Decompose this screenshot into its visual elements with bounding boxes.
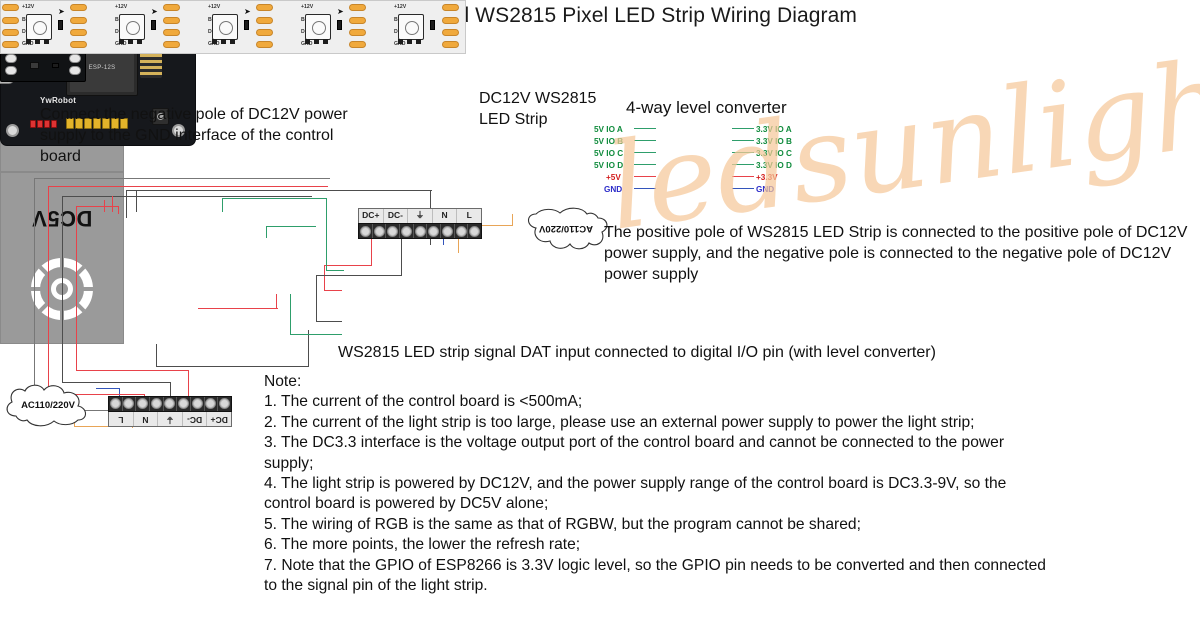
resistor bbox=[52, 63, 59, 68]
led-segment: +12V BI DI GND bbox=[372, 0, 465, 54]
direction-arrow-icon: ➤ bbox=[337, 8, 344, 16]
wire-sig-top bbox=[222, 198, 326, 199]
pad-label-12v: +12V bbox=[115, 4, 127, 10]
terminal-screw[interactable] bbox=[359, 224, 373, 238]
note-item: 7. Note that the GPIO of ESP8266 is 3.3V… bbox=[264, 556, 1054, 597]
pad-12v bbox=[2, 4, 19, 11]
wire-board-top-red bbox=[112, 196, 113, 212]
wire-board-top-black bbox=[136, 190, 137, 212]
right-instruction-note: The positive pole of WS2815 LED Strip is… bbox=[604, 222, 1194, 285]
dc12v-terminal-block: DC+ DC- ⏚ N L bbox=[358, 208, 482, 239]
dc5v-terminal-names: DC+ DC- ⏚ N L bbox=[108, 412, 232, 427]
led-segment: +12V BI DI GND ➤ bbox=[0, 0, 93, 54]
pad-12v bbox=[256, 4, 273, 11]
wire-12v-pos-down bbox=[371, 239, 372, 265]
pad-33v-gnd[interactable] bbox=[69, 66, 81, 75]
notes-heading: Note: bbox=[264, 372, 1054, 392]
pad-gnd bbox=[442, 41, 459, 48]
mosfet bbox=[30, 62, 39, 69]
wire-12v-neg-left bbox=[316, 275, 402, 276]
pad-label-12v: +12V bbox=[208, 4, 220, 10]
label-33v-io-d: 3.3V IO D bbox=[756, 161, 792, 170]
wire-12v-pos-strip-h bbox=[324, 290, 342, 291]
pad-bi bbox=[2, 17, 19, 24]
wire-ac-neutral-h bbox=[96, 388, 120, 389]
wire-conv-pwr bbox=[276, 294, 277, 308]
wire-gnd-mid-top bbox=[62, 196, 312, 197]
wire-sig-conv-b bbox=[266, 226, 316, 227]
pad-label-12v: +12V bbox=[394, 4, 406, 10]
terminal-name: DC+ bbox=[359, 209, 384, 223]
wire-conv-to-strip bbox=[290, 334, 342, 335]
wire-5v-inner-v bbox=[76, 206, 77, 370]
lead-33v-io-d bbox=[732, 164, 754, 165]
direction-arrow-icon: ➤ bbox=[58, 8, 65, 16]
wire-ac2-live bbox=[458, 239, 459, 253]
terminal-screw[interactable] bbox=[190, 397, 204, 411]
ac-source-cloud-secondary: AC110/220V bbox=[520, 206, 612, 252]
terminal-screw[interactable] bbox=[414, 224, 428, 238]
wire-12v-neg-down bbox=[401, 239, 402, 275]
terminal-name: L bbox=[457, 209, 481, 223]
pad-gnd bbox=[163, 41, 180, 48]
wire-gnd-mid-v bbox=[62, 196, 63, 382]
label-33v-io-a: 3.3V IO A bbox=[756, 125, 792, 134]
dc12v-strip-caption: DC12V WS2815 LED Strip bbox=[479, 88, 609, 130]
terminal-name: N bbox=[433, 209, 458, 223]
note-item: 4. The light strip is powered by DC12V, … bbox=[264, 474, 1054, 515]
terminal-name: DC+ bbox=[206, 412, 231, 426]
ac-source-cloud: AC110/220V bbox=[2, 382, 94, 428]
wire-conv-pwr-h bbox=[198, 308, 278, 309]
wire-board-bottom-gnd bbox=[156, 344, 157, 366]
terminal-screw[interactable] bbox=[441, 224, 455, 238]
terminal-screw[interactable] bbox=[135, 397, 149, 411]
pad-bi bbox=[256, 17, 273, 24]
note-item: 5. The wiring of RGB is the same as that… bbox=[264, 515, 1054, 535]
terminal-screw[interactable] bbox=[163, 397, 177, 411]
terminal-screw[interactable] bbox=[386, 224, 400, 238]
ws2815-led bbox=[398, 14, 424, 40]
level-converter-board[interactable] bbox=[0, 548, 86, 618]
pad-di bbox=[2, 29, 19, 36]
wire-board-bottom-up bbox=[308, 330, 309, 367]
wire-5v-inner-to-board bbox=[118, 206, 119, 214]
wire-gnd-outer-top bbox=[34, 178, 330, 179]
left-instruction-note: Connect the negative pole of DC12V power… bbox=[40, 104, 355, 167]
pad-di bbox=[70, 29, 87, 36]
wire-conv-down bbox=[290, 294, 291, 334]
direction-arrow-icon: ➤ bbox=[244, 8, 251, 16]
pad-12v bbox=[349, 4, 366, 11]
pad-di bbox=[163, 29, 180, 36]
direction-arrow-icon: ➤ bbox=[151, 8, 158, 16]
pad-gnd bbox=[256, 41, 273, 48]
wiring-diagram-canvas: ESP8266 Control Board WS2815 Pixel LED S… bbox=[0, 0, 1200, 618]
wire-gnd-outer-v bbox=[34, 178, 35, 410]
watermark-text: ledsunlight.com bbox=[600, 0, 1200, 257]
label-33v-io-c: 3.3V IO C bbox=[756, 149, 792, 158]
label-33v-power: +3.3V bbox=[756, 173, 778, 182]
label-33v-gnd: GND bbox=[756, 185, 774, 194]
lead-33v-gnd bbox=[732, 188, 754, 189]
lead-5v-io-d bbox=[634, 164, 656, 165]
led-segment: +12V BI DI GND ➤ bbox=[186, 0, 279, 54]
ws2815-led bbox=[26, 14, 52, 40]
ws2815-led bbox=[119, 14, 145, 40]
lead-33v-io-b bbox=[732, 140, 754, 141]
pad-12v bbox=[163, 4, 180, 11]
pad-bi bbox=[163, 17, 180, 24]
terminal-screw[interactable] bbox=[122, 397, 136, 411]
led-solder-feet bbox=[119, 39, 145, 44]
pad-bi bbox=[442, 17, 459, 24]
resistor bbox=[58, 20, 63, 30]
label-5v-power: +5V bbox=[606, 173, 621, 182]
lead-5v-io-c bbox=[634, 152, 656, 153]
led-segment: +12V BI DI GND ➤ bbox=[279, 0, 372, 54]
pad-gnd bbox=[70, 41, 87, 48]
ac-source-label-secondary: AC110/220V bbox=[520, 206, 612, 252]
led-strip-caption: WS2815 LED strip signal DAT input connec… bbox=[338, 343, 978, 363]
terminal-screw[interactable] bbox=[109, 397, 122, 411]
wire-board-bottom-h bbox=[156, 366, 308, 367]
wire-board-top-red2 bbox=[104, 200, 105, 212]
terminal-screw[interactable] bbox=[400, 224, 414, 238]
lead-33v-power bbox=[732, 176, 754, 177]
note-item: 1. The current of the control board is <… bbox=[264, 392, 1054, 412]
wire-5v-outer-v bbox=[48, 186, 49, 394]
wire-5v-inner-bottom bbox=[76, 370, 188, 371]
pad-12v bbox=[442, 4, 459, 11]
terminal-name: DC- bbox=[182, 412, 207, 426]
pad-bi bbox=[349, 17, 366, 24]
ws2815-led bbox=[305, 14, 331, 40]
pad-5v-gnd[interactable] bbox=[5, 66, 17, 75]
label-33v-io-b: 3.3V IO B bbox=[756, 137, 792, 146]
notes-block: Note: 1. The current of the control boar… bbox=[264, 372, 1054, 596]
dc5v-terminal-block: DC+ DC- ⏚ N L bbox=[108, 396, 232, 427]
lead-5v-io-b bbox=[634, 140, 656, 141]
terminal-name: DC- bbox=[384, 209, 409, 223]
wire-sig-up bbox=[222, 198, 223, 212]
pad-gnd bbox=[349, 41, 366, 48]
ac-source-label: AC110/220V bbox=[2, 382, 94, 428]
pad-5v-power[interactable] bbox=[5, 54, 17, 63]
terminal-screw[interactable] bbox=[217, 397, 231, 411]
level-converter-module-small[interactable] bbox=[0, 490, 56, 548]
wire-12v-gnd-left bbox=[126, 190, 127, 218]
wire-12v-gnd-top bbox=[126, 190, 432, 191]
terminal-name: ⏚ bbox=[408, 209, 433, 223]
terminal-name: ⏚ bbox=[157, 412, 182, 426]
note-item: 2. The current of the light strip is too… bbox=[264, 413, 1054, 433]
led-solder-feet bbox=[398, 39, 424, 44]
pad-bi bbox=[70, 17, 87, 24]
label-5v-io-b: 5V IO B bbox=[594, 137, 623, 146]
ps-label-line1: DC12V WS2815 bbox=[479, 88, 609, 109]
lead-33v-io-c bbox=[732, 152, 754, 153]
led-solder-feet bbox=[212, 39, 238, 44]
note-item: 6. The more points, the lower the refres… bbox=[264, 535, 1054, 555]
terminal-screw[interactable] bbox=[455, 224, 469, 238]
wire-12v-pos-strip bbox=[324, 265, 325, 290]
resistor bbox=[244, 20, 249, 30]
wire-sig-to-strip bbox=[326, 270, 344, 271]
pad-gnd bbox=[2, 41, 19, 48]
wire-ac2-live-v bbox=[512, 214, 513, 226]
dc12v-terminal-names: DC+ DC- ⏚ N L bbox=[358, 208, 482, 223]
pad-di bbox=[256, 29, 273, 36]
resistor bbox=[337, 20, 342, 30]
terminal-name: N bbox=[133, 412, 158, 426]
wire-5v-outer-top bbox=[48, 186, 328, 187]
wire-sig-right bbox=[326, 198, 327, 270]
note-item: 3. The DC3.3 interface is the voltage ou… bbox=[264, 433, 1054, 474]
mounting-hole bbox=[6, 124, 19, 137]
label-5v-gnd: GND bbox=[604, 185, 622, 194]
dc5v-terminal-screws bbox=[108, 396, 232, 412]
wire-ac2-neutral bbox=[443, 239, 444, 245]
terminal-screw[interactable] bbox=[373, 224, 387, 238]
terminal-screw[interactable] bbox=[204, 397, 218, 411]
level-converter-title: 4-way level converter bbox=[626, 98, 787, 118]
resistor bbox=[151, 20, 156, 30]
terminal-screw[interactable] bbox=[149, 397, 163, 411]
ps-label-line2: LED Strip bbox=[479, 109, 609, 130]
pad-33v-power[interactable] bbox=[69, 54, 81, 63]
pad-di bbox=[442, 29, 459, 36]
led-solder-feet bbox=[26, 39, 52, 44]
led-segment: +12V BI DI GND ➤ bbox=[93, 0, 186, 54]
lead-5v-io-a bbox=[634, 128, 656, 129]
pad-12v bbox=[70, 4, 87, 11]
resistor bbox=[430, 20, 435, 30]
pad-label-12v: +12V bbox=[301, 4, 313, 10]
wire-12v-neg-strip bbox=[316, 321, 342, 322]
wire-sig-conv-a bbox=[266, 226, 267, 238]
lead-33v-io-a bbox=[732, 128, 754, 129]
label-5v-io-c: 5V IO C bbox=[594, 149, 623, 158]
wire-12v-pos-left bbox=[324, 265, 372, 266]
terminal-name: L bbox=[109, 412, 133, 426]
lead-5v-power bbox=[634, 176, 656, 177]
pad-di bbox=[349, 29, 366, 36]
terminal-screw[interactable] bbox=[468, 224, 481, 238]
ws2815-led bbox=[212, 14, 238, 40]
label-5v-io-d: 5V IO D bbox=[594, 161, 623, 170]
terminal-screw[interactable] bbox=[176, 397, 190, 411]
lead-5v-gnd bbox=[634, 188, 656, 189]
pad-label-12v: +12V bbox=[22, 4, 34, 10]
terminal-screw[interactable] bbox=[427, 224, 441, 238]
wire-12v-neg-v bbox=[316, 275, 317, 321]
dc12v-terminal-screws bbox=[358, 223, 482, 239]
led-solder-feet bbox=[305, 39, 331, 44]
